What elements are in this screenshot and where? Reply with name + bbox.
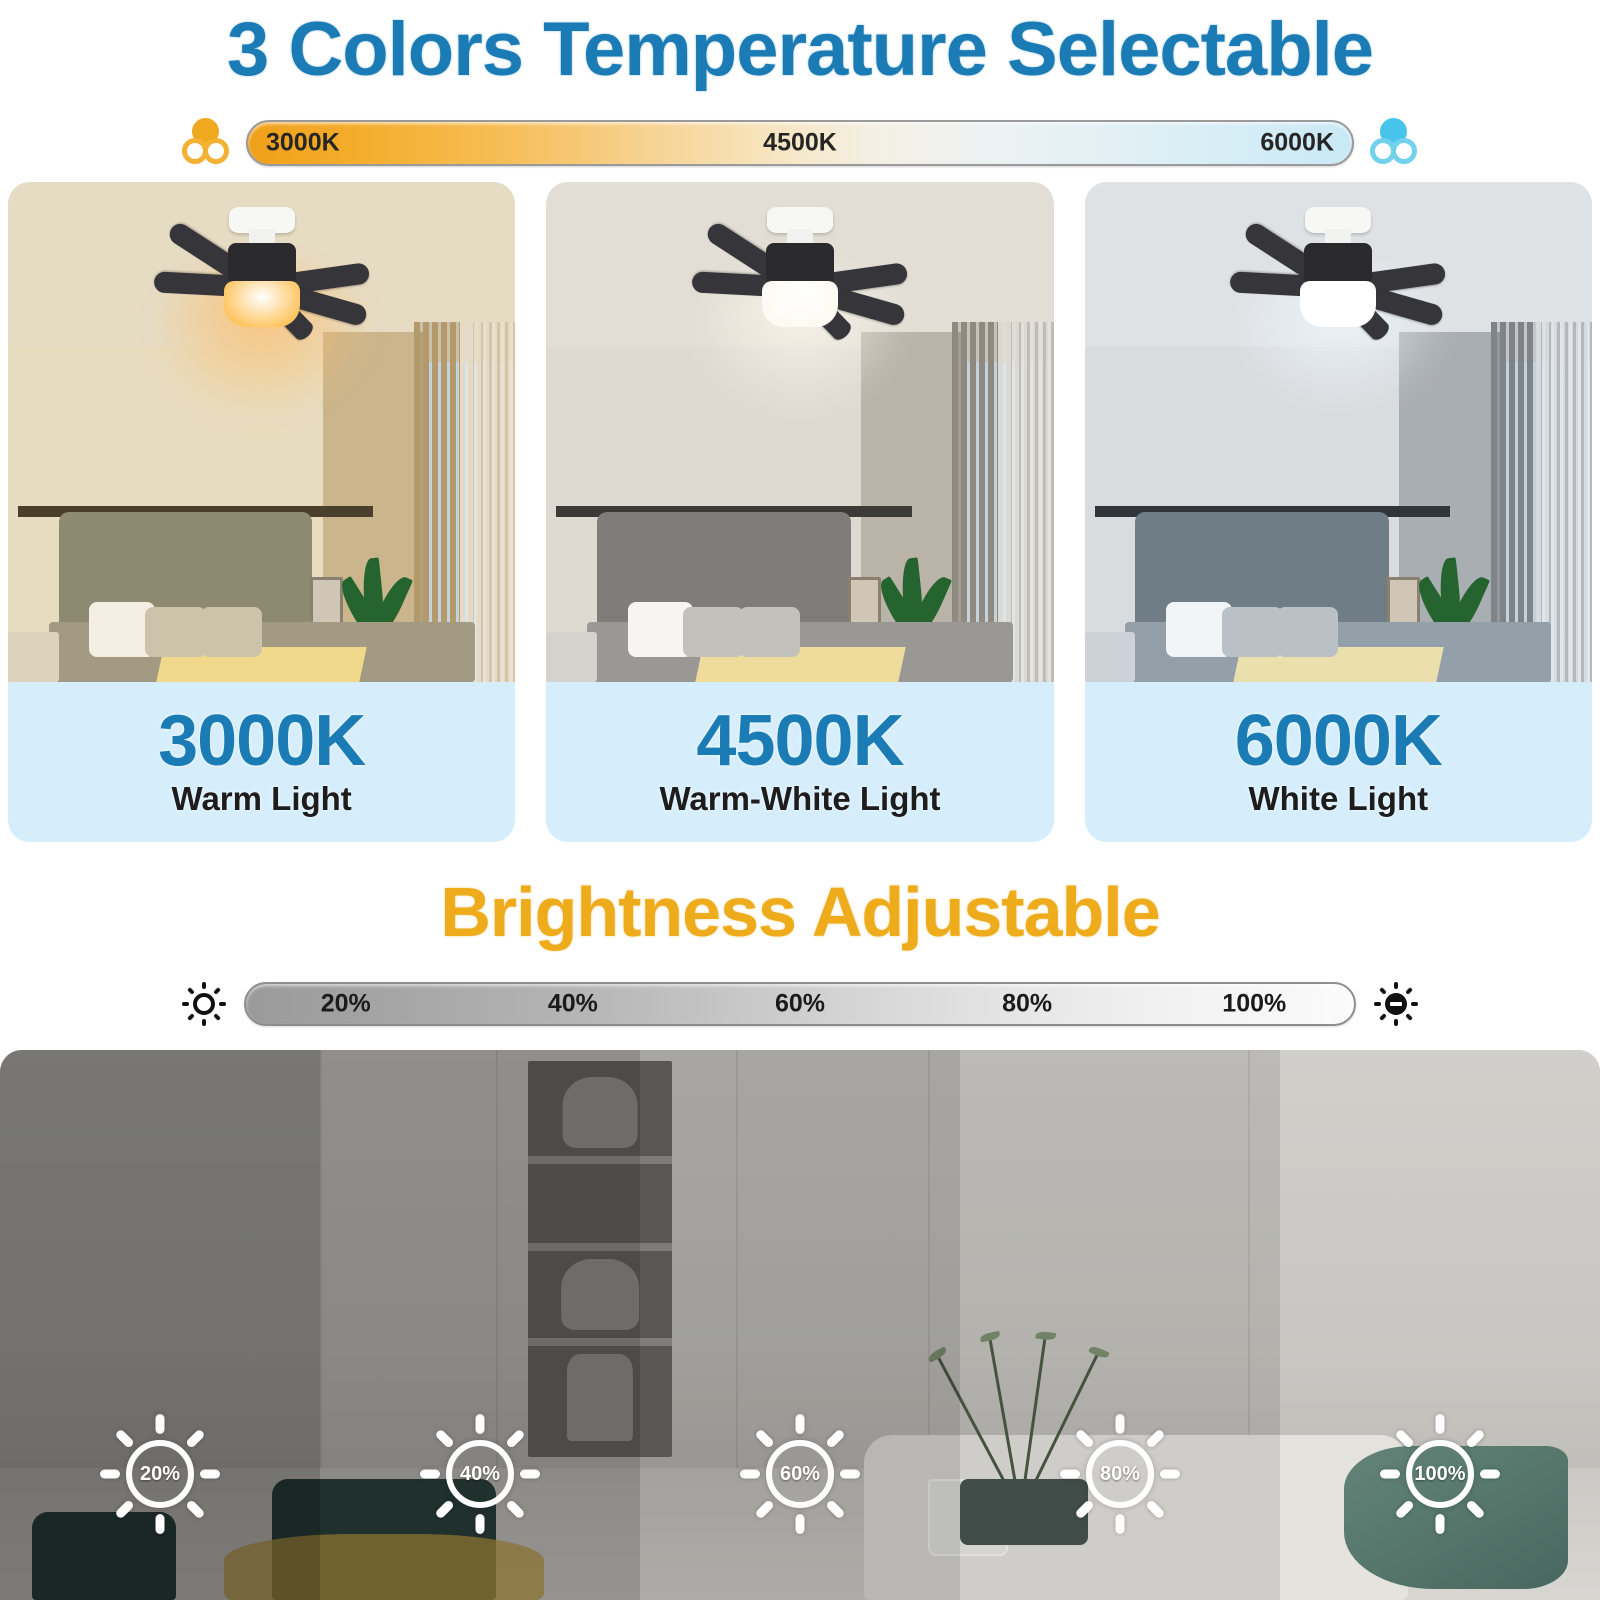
brightness-badge-label: 100% xyxy=(1414,1463,1465,1486)
nightstand xyxy=(546,632,597,682)
sun-ray xyxy=(213,987,221,995)
cct-caption: 3000K Warm Light xyxy=(8,682,515,842)
cct-section-heading: 3 Colors Temperature Selectable xyxy=(0,6,1600,93)
cct-gradient-label-4500k: 4500K xyxy=(763,129,837,158)
brightness-badge-label: 40% xyxy=(460,1463,500,1486)
sun-ray xyxy=(825,1428,846,1449)
ceiling-fan xyxy=(112,207,412,357)
fan-light xyxy=(1300,281,1376,327)
sun-ray xyxy=(1060,1470,1080,1479)
brightness-badge: 80% xyxy=(1056,1410,1184,1538)
pillow xyxy=(683,607,744,657)
sun-ray xyxy=(202,982,206,989)
sun-ray xyxy=(476,1514,485,1534)
sun-ray xyxy=(825,1499,846,1520)
cct-kelvin-label: 4500K xyxy=(696,706,903,777)
ceiling-fan xyxy=(650,207,950,357)
sun-ray xyxy=(1436,1514,1445,1534)
sun-ray xyxy=(796,1414,805,1434)
sun-ray xyxy=(213,1013,221,1021)
sun-ray xyxy=(1436,1414,1445,1434)
sun-ray xyxy=(100,1470,120,1479)
cct-gradient-bar[interactable]: 3000K 4500K 6000K xyxy=(246,120,1354,166)
sun-ray xyxy=(219,1002,226,1006)
pillow xyxy=(201,607,262,657)
cct-photo xyxy=(1085,182,1592,682)
cct-photo xyxy=(546,182,1053,682)
sun-ray xyxy=(1411,1002,1418,1006)
sun-ray xyxy=(114,1428,135,1449)
brightness-tick-label: 20% xyxy=(321,990,371,1019)
sun-ray xyxy=(1394,1428,1415,1449)
sun-ray xyxy=(1160,1470,1180,1479)
brightness-badge: 100% xyxy=(1376,1410,1504,1538)
cct-photo xyxy=(8,182,515,682)
cct-name-label: Warm Light xyxy=(172,780,352,818)
sun-ray xyxy=(796,1514,805,1534)
brightness-slider-row: 20%40%60%80%100% xyxy=(180,975,1420,1033)
brightness-badge-label: 80% xyxy=(1100,1463,1140,1486)
sun-ray xyxy=(187,987,195,995)
sun-ray xyxy=(1405,987,1413,995)
bedroom-scene xyxy=(546,182,1053,682)
sun-ray xyxy=(434,1499,455,1520)
brightness-section-heading: Brightness Adjustable xyxy=(0,872,1600,952)
sun-badge-icon: 40% xyxy=(446,1440,514,1508)
brightness-badge: 40% xyxy=(416,1410,544,1538)
sun-ray xyxy=(200,1470,220,1479)
sun-ray xyxy=(156,1414,165,1434)
sun-badge-icon: 60% xyxy=(766,1440,834,1508)
sun-ray xyxy=(840,1470,860,1479)
brightness-badge: 60% xyxy=(736,1410,864,1538)
bedroom-scene xyxy=(8,182,515,682)
sun-ray xyxy=(1394,1499,1415,1520)
brightness-badge-label: 60% xyxy=(780,1463,820,1486)
potted-plant xyxy=(1425,527,1471,637)
figurine xyxy=(561,1259,639,1330)
coffee-table xyxy=(224,1534,544,1600)
sun-ray xyxy=(185,1428,206,1449)
cct-caption: 4500K Warm-White Light xyxy=(546,682,1053,842)
sun-ray xyxy=(520,1470,540,1479)
sun-ray xyxy=(156,1514,165,1534)
potted-plant xyxy=(348,527,394,637)
pillow xyxy=(1277,607,1338,657)
cct-gradient-label-3000k: 3000K xyxy=(266,129,340,158)
shelf-unit xyxy=(528,1061,672,1457)
three-circles-warm-icon xyxy=(180,117,232,169)
sun-ray xyxy=(182,1002,189,1006)
sun-ray xyxy=(1116,1514,1125,1534)
brightness-tick-label: 40% xyxy=(548,990,598,1019)
fan-light xyxy=(224,281,300,327)
sun-ray xyxy=(420,1470,440,1479)
sun-ray xyxy=(476,1414,485,1434)
sun-ray xyxy=(505,1499,526,1520)
sun-ray xyxy=(754,1499,775,1520)
ceiling-fan xyxy=(1188,207,1488,357)
bedroom-scene xyxy=(1085,182,1592,682)
sun-ray xyxy=(1379,1013,1387,1021)
brightness-tick-label: 80% xyxy=(1002,990,1052,1019)
three-circles-cool-icon xyxy=(1368,117,1420,169)
cct-gradient-row: 3000K 4500K 6000K xyxy=(180,112,1420,174)
brightness-badge-label: 20% xyxy=(140,1463,180,1486)
pillow xyxy=(145,607,206,657)
cct-kelvin-label: 3000K xyxy=(158,706,365,777)
sun-high-icon xyxy=(1372,980,1420,1028)
sun-ray xyxy=(185,1499,206,1520)
infographic-page: 3 Colors Temperature Selectable 3000K 45… xyxy=(0,0,1600,1600)
sun-badge-icon: 20% xyxy=(126,1440,194,1508)
brightness-tick-label: 100% xyxy=(1222,990,1286,1019)
sun-ray xyxy=(1145,1499,1166,1520)
sun-ray xyxy=(740,1470,760,1479)
cct-name-label: Warm-White Light xyxy=(659,780,940,818)
cct-card: 3000K Warm Light xyxy=(8,182,515,842)
sun-ray xyxy=(754,1428,775,1449)
sun-ray xyxy=(1405,1013,1413,1021)
sun-ray xyxy=(1116,1414,1125,1434)
cct-name-label: White Light xyxy=(1249,780,1429,818)
cct-gradient-label-6000k: 6000K xyxy=(1260,129,1334,158)
sun-ray xyxy=(505,1428,526,1449)
brightness-slider-bar[interactable]: 20%40%60%80%100% xyxy=(244,982,1356,1026)
potted-plant xyxy=(886,527,932,637)
sun-ray xyxy=(187,1013,195,1021)
sun-ray xyxy=(114,1499,135,1520)
nightstand xyxy=(8,632,59,682)
brightness-tick-label: 60% xyxy=(775,990,825,1019)
cct-card: 6000K White Light xyxy=(1085,182,1592,842)
fan-light xyxy=(762,281,838,327)
sun-ray xyxy=(1394,1019,1398,1026)
wall-panel-line xyxy=(1248,1050,1250,1490)
cct-caption: 6000K White Light xyxy=(1085,682,1592,842)
cct-card: 4500K Warm-White Light xyxy=(546,182,1053,842)
sun-ray xyxy=(1380,1470,1400,1479)
figurine xyxy=(563,1077,638,1148)
sun-ray xyxy=(1480,1470,1500,1479)
pillow xyxy=(739,607,800,657)
sun-badge-icon: 100% xyxy=(1406,1440,1474,1508)
nightstand xyxy=(1085,632,1136,682)
sun-ray xyxy=(1074,1499,1095,1520)
sun-ray xyxy=(1074,1428,1095,1449)
sun-low-icon xyxy=(180,980,228,1028)
pillow xyxy=(1222,607,1283,657)
brightness-badge: 20% xyxy=(96,1410,224,1538)
sun-ray xyxy=(1465,1499,1486,1520)
sun-ray xyxy=(1379,987,1387,995)
sun-ray xyxy=(1374,1002,1381,1006)
living-room-scene: 20% 40% 60% 80% 100% xyxy=(0,1050,1600,1600)
sun-ray xyxy=(1145,1428,1166,1449)
cct-card-list: 3000K Warm Light xyxy=(8,182,1592,842)
sun-ray xyxy=(202,1019,206,1026)
cct-kelvin-label: 6000K xyxy=(1235,706,1442,777)
wall-panel-line xyxy=(320,1050,322,1490)
sun-ray xyxy=(434,1428,455,1449)
sun-ray xyxy=(1465,1428,1486,1449)
sun-badge-icon: 80% xyxy=(1086,1440,1154,1508)
sun-ray xyxy=(1394,982,1398,989)
figurine xyxy=(567,1354,633,1441)
